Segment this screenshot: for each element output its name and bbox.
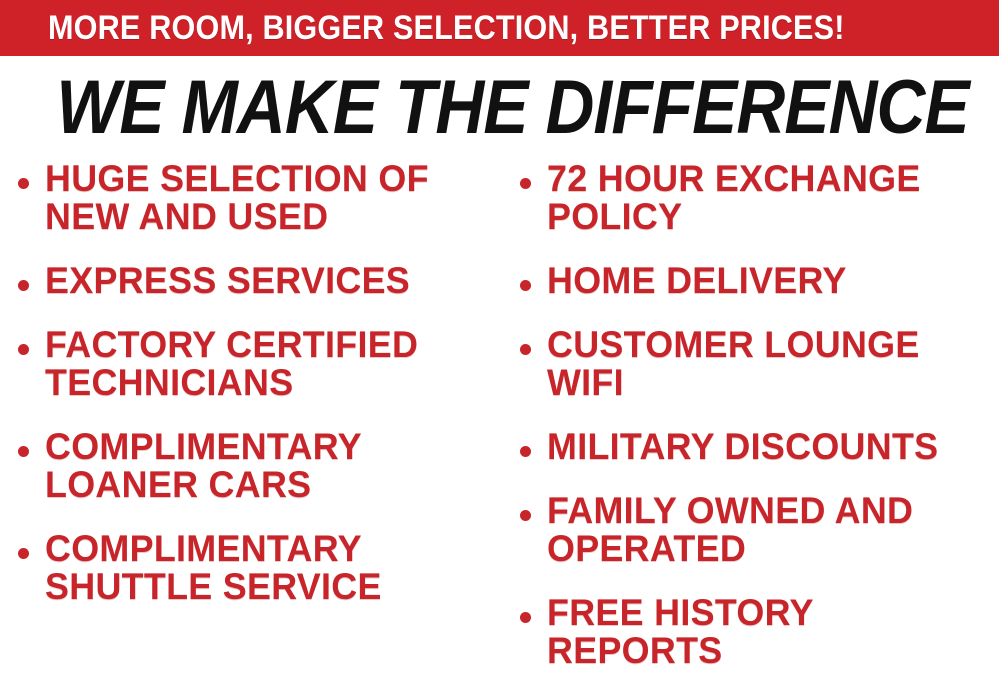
- bullet-dot-icon: [520, 510, 531, 521]
- bullet-dot-icon: [18, 446, 29, 457]
- promo-poster: MORE ROOM, BIGGER SELECTION, BETTER PRIC…: [0, 0, 999, 692]
- list-item-label: CUSTOMER LOUNGE WIFI: [547, 326, 985, 402]
- bullet-dot-icon: [520, 178, 531, 189]
- list-item: 72 HOUR EXCHANGE POLICY: [520, 160, 999, 236]
- headline-text: WE MAKE THE DIFFERENCE: [56, 68, 968, 148]
- list-item: CUSTOMER LOUNGE WIFI: [520, 326, 999, 402]
- list-item: HOME DELIVERY: [520, 262, 999, 300]
- list-item-label: 72 HOUR EXCHANGE POLICY: [547, 160, 985, 236]
- list-item-label: COMPLIMENTARY LOANER CARS: [45, 428, 490, 504]
- benefits-columns: HUGE SELECTION OF NEW AND USED EXPRESS S…: [0, 160, 999, 692]
- list-item-label: FACTORY CERTIFIED TECHNICIANS: [45, 326, 490, 402]
- list-item: EXPRESS SERVICES: [18, 262, 504, 300]
- list-item: FAMILY OWNED AND OPERATED: [520, 492, 999, 568]
- list-item: COMPLIMENTARY SHUTTLE SERVICE: [18, 530, 504, 606]
- bullet-dot-icon: [520, 344, 531, 355]
- list-item-label: MILITARY DISCOUNTS: [547, 428, 985, 466]
- bullet-dot-icon: [520, 280, 531, 291]
- list-item: MILITARY DISCOUNTS: [520, 428, 999, 466]
- top-banner-text: MORE ROOM, BIGGER SELECTION, BETTER PRIC…: [48, 11, 845, 45]
- benefits-column-right: 72 HOUR EXCHANGE POLICY HOME DELIVERY CU…: [520, 160, 999, 692]
- bullet-dot-icon: [520, 446, 531, 457]
- top-banner: MORE ROOM, BIGGER SELECTION, BETTER PRIC…: [0, 0, 999, 56]
- bullet-dot-icon: [18, 280, 29, 291]
- benefits-column-left: HUGE SELECTION OF NEW AND USED EXPRESS S…: [18, 160, 504, 632]
- list-item-label: FREE HISTORY REPORTS: [547, 594, 985, 670]
- bullet-dot-icon: [18, 178, 29, 189]
- list-item-label: FAMILY OWNED AND OPERATED: [547, 492, 985, 568]
- bullet-dot-icon: [520, 612, 531, 623]
- list-item-label: HUGE SELECTION OF NEW AND USED: [45, 160, 490, 236]
- list-item: FACTORY CERTIFIED TECHNICIANS: [18, 326, 504, 402]
- list-item: FREE HISTORY REPORTS: [520, 594, 999, 670]
- list-item-label: HOME DELIVERY: [547, 262, 985, 300]
- headline: WE MAKE THE DIFFERENCE: [0, 68, 999, 148]
- list-item: HUGE SELECTION OF NEW AND USED: [18, 160, 504, 236]
- bullet-dot-icon: [18, 344, 29, 355]
- list-item-label: EXPRESS SERVICES: [45, 262, 490, 300]
- bullet-dot-icon: [18, 548, 29, 559]
- list-item: COMPLIMENTARY LOANER CARS: [18, 428, 504, 504]
- list-item-label: COMPLIMENTARY SHUTTLE SERVICE: [45, 530, 490, 606]
